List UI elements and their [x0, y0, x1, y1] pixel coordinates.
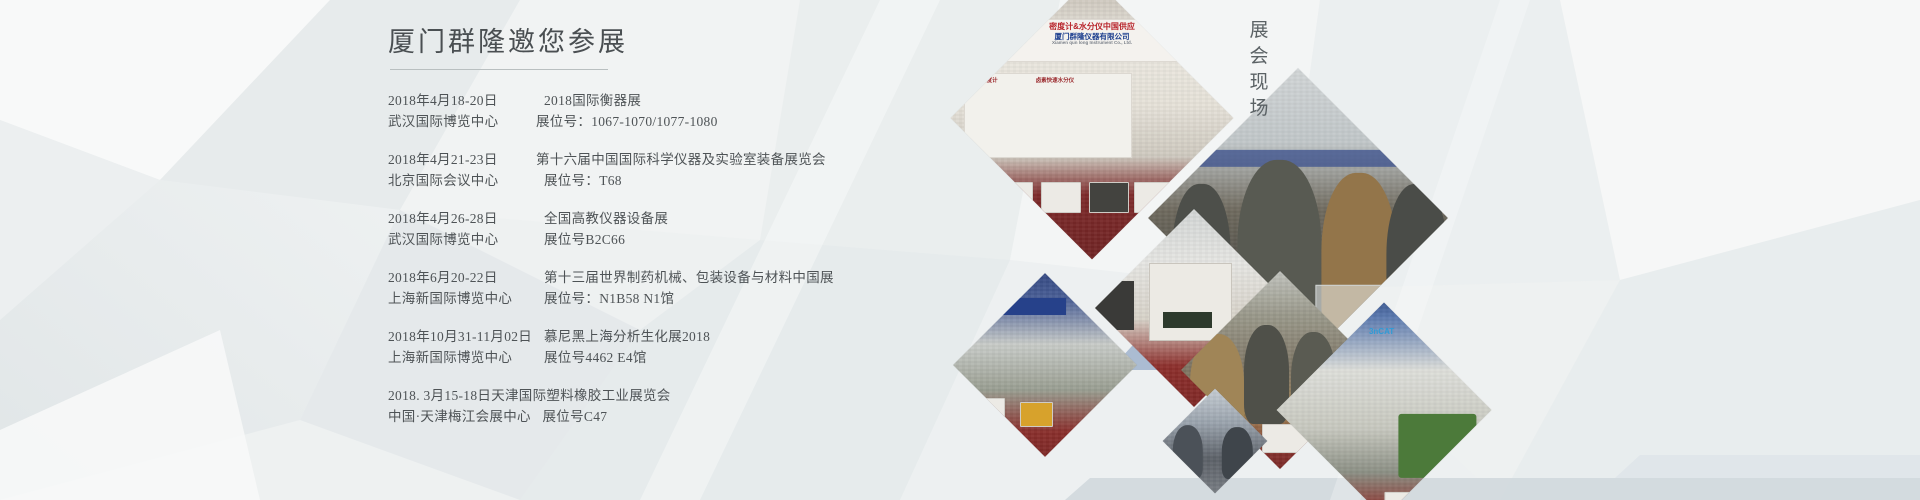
exhibition-entry: 2018. 3月15-18日天津国际塑料橡胶工业展览会 中国·天津梅江会展中心 … — [388, 385, 948, 427]
entry-line-bottom: 上海新国际博览中心 展位号4462 E4馆 — [388, 347, 948, 368]
entry-date: 2018年6月20-22日 — [388, 267, 536, 288]
entry-line-top: 2018年4月18-20日 2018国际衡器展 — [388, 90, 948, 111]
exhibition-entry: 2018年4月18-20日 2018国际衡器展 武汉国际博览中心 展位号：106… — [388, 90, 948, 132]
vertical-char: 现 — [1243, 70, 1277, 96]
entry-line-top: 2018年4月26-28日 全国高教仪器设备展 — [388, 208, 948, 229]
entry-line-bottom: 上海新国际博览中心 展位号：N1B58 N1馆 — [388, 288, 948, 309]
entry-booth: 展位号：N1B58 N1馆 — [536, 288, 674, 309]
entry-venue: 上海新国际博览中心 — [388, 288, 536, 309]
entry-name: 全国高教仪器设备展 — [536, 208, 668, 229]
exhibition-entry: 2018年10月31-11月02日 慕尼黑上海分析生化展2018 上海新国际博览… — [388, 326, 948, 368]
visitor-figure — [1222, 427, 1253, 479]
instrument-on-table — [1041, 182, 1081, 213]
entry-date: 2018. 3月15-18日天津国际塑料橡胶工业展览会 — [388, 385, 948, 406]
exhibition-banner: 厦门群隆邀您参展 2018年4月18-20日 2018国际衡器展 武汉国际博览中… — [0, 0, 1920, 500]
entry-date: 2018年4月26-28日 — [388, 208, 536, 229]
booth-poster: 精密电子密度计 卤素快速水分仪 — [964, 73, 1132, 158]
entry-date: 2018年4月18-20日 — [388, 90, 536, 111]
entry-venue: 北京国际会议中心 — [388, 170, 536, 191]
entry-line-top: 2018年6月20-22日 第十三届世界制药机械、包装设备与材料中国展 — [388, 267, 948, 288]
entry-booth: 展位号B2C66 — [536, 229, 625, 250]
entry-line-top: 2018年4月21-23日 第十六届中国国际科学仪器及实验室装备展览会 — [388, 149, 948, 170]
entry-booth: 展位号：1067-1070/1077-1080 — [536, 111, 718, 132]
entry-booth: 展位号：T68 — [536, 170, 622, 191]
vertical-section-label: 展 会 现 场 — [1243, 18, 1277, 122]
photo-collage: 密度计&水分仪中国供应 厦门群隆仪器有限公司 Xiamen qun long I… — [1020, 0, 1460, 500]
exhibition-entry: 2018年4月21-23日 第十六届中国国际科学仪器及实验室装备展览会 北京国际… — [388, 149, 948, 191]
entry-name: 慕尼黑上海分析生化展2018 — [536, 326, 710, 347]
entry-name: 第十三届世界制药机械、包装设备与材料中国展 — [536, 267, 834, 288]
exhibition-text-column: 厦门群隆邀您参展 2018年4月18-20日 2018国际衡器展 武汉国际博览中… — [388, 20, 948, 444]
entry-venue: 武汉国际博览中心 — [388, 111, 536, 132]
entry-booth: 展位号C47 — [534, 409, 607, 424]
poster-label-right: 卤素快速水分仪 — [1005, 76, 1105, 84]
entry-name: 第十六届中国国际科学仪器及实验室装备展览会 — [536, 149, 826, 170]
vertical-char: 展 — [1243, 18, 1277, 44]
entry-line-bottom: 北京国际会议中心 展位号：T68 — [388, 170, 948, 191]
instrument-on-table — [1089, 182, 1129, 213]
entry-line-bottom: 武汉国际博览中心 展位号B2C66 — [388, 229, 948, 250]
balance-display — [1163, 312, 1212, 328]
entry-venue: 上海新国际博览中心 — [388, 347, 536, 368]
exhibition-entry: 2018年6月20-22日 第十三届世界制药机械、包装设备与材料中国展 上海新国… — [388, 267, 948, 309]
instrument-on-table — [1384, 493, 1430, 500]
title-divider — [390, 69, 608, 70]
entry-line-top: 2018年10月31-11月02日 慕尼黑上海分析生化展2018 — [388, 326, 948, 347]
entry-date: 2018年4月21-23日 — [388, 149, 536, 170]
background-pattern — [0, 0, 1920, 500]
entry-date: 2018年10月31-11月02日 — [388, 326, 536, 347]
entry-line-bottom: 武汉国际博览中心 展位号：1067-1070/1077-1080 — [388, 111, 948, 132]
vertical-char: 会 — [1243, 44, 1277, 70]
visitor-figure — [1172, 424, 1203, 478]
entry-booth: 展位号4462 E4馆 — [536, 347, 647, 368]
entry-line-bottom: 中国·天津梅江会展中心 展位号C47 — [388, 406, 948, 427]
entry-line-top: 2018. 3月15-18日天津国际塑料橡胶工业展览会 — [388, 385, 948, 406]
entry-name: 2018国际衡器展 — [536, 90, 641, 111]
instrument-on-table — [1020, 402, 1053, 427]
page-title: 厦门群隆邀您参展 — [388, 20, 948, 67]
printer-device — [1095, 281, 1133, 330]
entry-venue: 武汉国际博览中心 — [388, 229, 536, 250]
exhibition-entry: 2018年4月26-28日 全国高教仪器设备展 武汉国际博览中心 展位号B2C6… — [388, 208, 948, 250]
vertical-char: 场 — [1243, 96, 1277, 122]
entry-venue: 中国·天津梅江会展中心 — [388, 409, 531, 424]
